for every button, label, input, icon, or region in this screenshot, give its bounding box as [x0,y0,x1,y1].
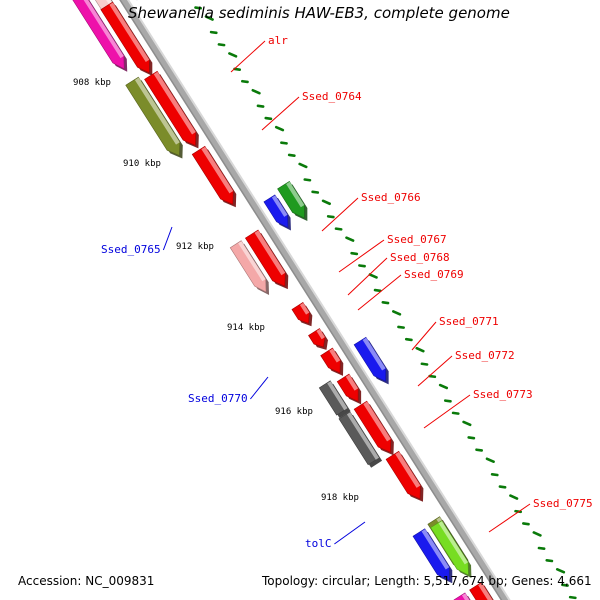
gene-Ssed_0769[interactable] [321,348,344,376]
gene-label-alr[interactable]: alr [268,34,288,47]
tick-label-918-kbp: 918 kbp [321,493,359,503]
gene-label-Ssed_0775[interactable]: Ssed_0775 [533,497,593,510]
page-title: Shewanella sediminis HAW-EB3, complete g… [128,4,510,22]
label-leader-layer [163,41,530,544]
leader-line-Ssed_0768 [348,258,387,295]
gene-label-Ssed_0773[interactable]: Ssed_0773 [473,388,533,401]
leader-line-Ssed_0770 [250,377,268,399]
leader-line-Ssed_0769 [358,275,401,310]
gene-label-Ssed_0765[interactable]: Ssed_0765 [101,243,161,256]
tick-label-910-kbp: 910 kbp [123,159,161,169]
gene-label-tolC[interactable]: tolC [305,537,332,550]
gene-label-Ssed_0764[interactable]: Ssed_0764 [302,90,362,103]
gene-feature-layer[interactable] [69,0,523,600]
tick-label-908-kbp: 908 kbp [73,78,111,88]
gene-red-post764[interactable] [192,146,236,207]
leader-line-Ssed_0764 [262,97,299,130]
leader-line-tolC [334,522,365,544]
leader-line-Ssed_0765 [163,227,172,250]
genome-map-viewer: 908 kbp910 kbp912 kbp914 kbp916 kbp918 k… [0,0,600,600]
tick-label-912-kbp: 912 kbp [176,242,214,252]
tick-mark-layer [159,0,575,598]
gene-label-Ssed_0767[interactable]: Ssed_0767 [387,233,447,246]
gene-label-Ssed_0771[interactable]: Ssed_0771 [439,315,499,328]
gene-Ssed_0767[interactable] [292,302,312,326]
gene-label-Ssed_0768[interactable]: Ssed_0768 [390,251,450,264]
leader-line-Ssed_0775 [489,504,530,532]
gene-label-Ssed_0769[interactable]: Ssed_0769 [404,268,464,281]
leader-line-Ssed_0772 [418,356,452,386]
genome-map-canvas[interactable]: 908 kbp910 kbp912 kbp914 kbp916 kbp918 k… [0,0,600,600]
gene-Ssed_0768[interactable] [309,328,328,349]
gene-label-Ssed_0770[interactable]: Ssed_0770 [188,392,248,405]
accession-label: Accession: NC_009831 [18,574,154,588]
genome-summary-label: Topology: circular; Length: 5,517,674 bp… [261,574,592,588]
leader-line-Ssed_0771 [412,322,436,350]
tick-label-914-kbp: 914 kbp [227,323,265,333]
gene-label-Ssed_0772[interactable]: Ssed_0772 [455,349,515,362]
gene-label-Ssed_0766[interactable]: Ssed_0766 [361,191,421,204]
tick-label-916-kbp: 916 kbp [275,407,313,417]
